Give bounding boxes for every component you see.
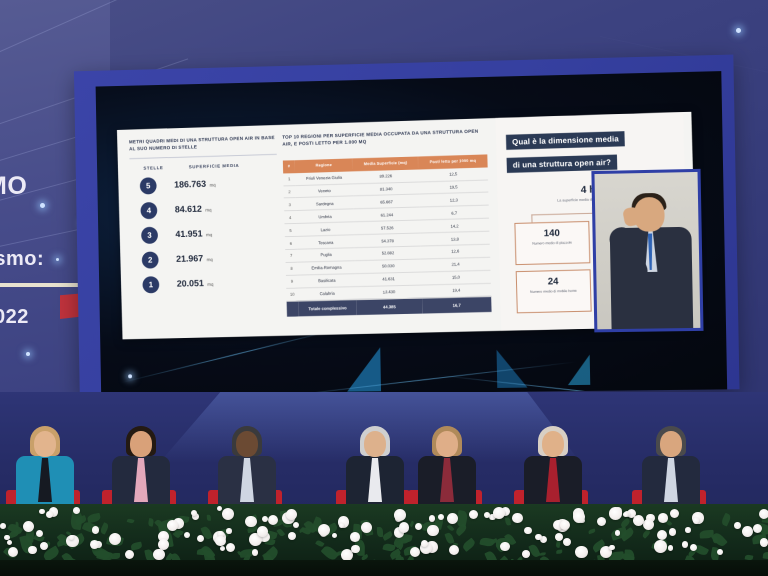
white-cyclamen-bloom (220, 546, 225, 551)
white-cyclamen-bloom (222, 508, 234, 520)
white-cyclamen-bloom (669, 528, 677, 536)
cell-idx: 7 (285, 249, 297, 262)
white-cyclamen-bloom (654, 540, 667, 553)
kpi-value: 24 (520, 276, 587, 289)
left-panel: METRI QUADRI MEDI DI UNA STRUTTURA OPEN … (129, 135, 281, 297)
foliage-leaf (99, 522, 109, 534)
kpi-box: 24Numero medio di mobile home (516, 270, 592, 314)
total-posti-cell: 16,7 (422, 296, 492, 313)
kpi-box: 140Numero medio di piazzole (514, 221, 590, 265)
total-idx-cell (287, 301, 299, 317)
white-cyclamen-bloom (524, 527, 532, 535)
foliage-leaf (556, 550, 562, 554)
foliage-leaf (505, 517, 511, 526)
panelist-head (130, 431, 152, 457)
white-cyclamen-bloom (469, 510, 478, 519)
regions-table: #RegioneMedia Superficie (mq)Posti letto… (283, 154, 492, 316)
foliage-leaf (126, 518, 134, 524)
white-cyclamen-bloom (717, 549, 723, 555)
backdrop-text-line-2: rismo: (0, 248, 44, 271)
header-stelle: STELLE (143, 165, 163, 171)
star-count-badge: 2 (142, 251, 159, 268)
white-cyclamen-bloom (427, 525, 439, 537)
panelist-head (34, 431, 56, 457)
white-cyclamen-bloom (109, 533, 121, 545)
white-cyclamen-bloom (643, 519, 654, 530)
foliage-leaf (86, 513, 101, 524)
white-cyclamen-bloom (92, 526, 100, 534)
white-cyclamen-bloom (734, 522, 740, 528)
deck-triangle (567, 355, 590, 385)
stage-apron (0, 560, 768, 576)
total-superficie-cell: 44.385 (356, 298, 422, 315)
white-cyclamen-bloom (215, 536, 225, 546)
cell-idx: 5 (285, 224, 297, 237)
white-cyclamen-bloom (40, 542, 48, 550)
wall-light-dot (736, 28, 741, 33)
white-cyclamen-bloom (682, 541, 688, 547)
kpi-value: 140 (519, 227, 586, 240)
star-count-badge: 3 (141, 226, 158, 243)
cell-idx: 3 (284, 198, 296, 211)
white-cyclamen-bloom (615, 530, 621, 536)
white-cyclamen-bloom (693, 517, 699, 523)
question-line-1: Qual è la dimensione media (506, 131, 625, 150)
cell-idx: 1 (283, 173, 295, 186)
white-cyclamen-bloom (668, 545, 674, 551)
wall-light-dot (40, 203, 45, 208)
foliage-leaf (479, 537, 494, 548)
white-cyclamen-bloom (742, 526, 753, 537)
cell-idx: 2 (283, 185, 295, 198)
white-cyclamen-bloom (609, 545, 615, 551)
white-cyclamen-bloom (252, 549, 258, 555)
panelist-head (436, 431, 458, 457)
star-rating-row: 120.051 mq (132, 269, 280, 297)
white-cyclamen-bloom (560, 520, 570, 530)
white-cyclamen-bloom (90, 540, 99, 549)
average-area-value: 41.951 mq (175, 228, 212, 239)
white-cyclamen-bloom (597, 517, 606, 526)
panelist-head (660, 431, 682, 457)
foliage-leaf (447, 524, 455, 532)
average-area-value: 84.612 mq (175, 204, 212, 215)
white-cyclamen-bloom (449, 545, 459, 555)
white-cyclamen-bloom (670, 509, 679, 518)
white-cyclamen-bloom (575, 546, 588, 559)
white-cyclamen-bloom (8, 547, 18, 557)
table-column-header: # (283, 160, 295, 173)
white-cyclamen-bloom (245, 516, 257, 528)
white-cyclamen-bloom (39, 509, 44, 514)
wall-light-dot (26, 352, 30, 356)
white-cyclamen-bloom (759, 509, 768, 519)
foliage-leaf (720, 512, 732, 526)
white-cyclamen-bloom (153, 549, 164, 560)
average-area-value: 186.763 mq (174, 179, 216, 190)
star-rating-row: 221.967 mq (132, 244, 280, 273)
foliage-leaf (642, 529, 652, 539)
white-cyclamen-bloom (522, 550, 530, 558)
foliage-leaf (130, 542, 142, 551)
stage-area (0, 392, 768, 576)
white-cyclamen-bloom (512, 513, 523, 524)
white-cyclamen-bloom (685, 527, 691, 533)
foliage-leaf (555, 541, 560, 548)
foliage-leaf (315, 539, 324, 547)
panelist-head (542, 431, 564, 457)
cell-idx: 10 (286, 288, 298, 301)
foliage-leaf (207, 515, 211, 521)
white-cyclamen-bloom (438, 514, 444, 520)
foliage-leaf (712, 535, 718, 544)
cell-idx: 9 (286, 275, 298, 288)
wall-cream-bar (0, 283, 78, 287)
white-cyclamen-bloom (288, 532, 296, 540)
foliage-leaf (276, 528, 284, 537)
star-count-badge: 4 (140, 202, 157, 219)
white-cyclamen-bloom (429, 515, 436, 522)
foliage-leaf (148, 518, 154, 527)
white-cyclamen-bloom (318, 524, 330, 536)
white-cyclamen-bloom (399, 522, 409, 532)
white-cyclamen-bloom (760, 538, 768, 547)
foliage-leaf (462, 538, 476, 552)
white-cyclamen-bloom (217, 506, 222, 511)
white-cyclamen-bloom (394, 509, 406, 521)
white-cyclamen-bloom (7, 540, 13, 546)
center-panel-title: TOP 10 REGIONI PER SUPERFICIE MEDIA OCCU… (282, 128, 487, 153)
white-cyclamen-bloom (535, 534, 542, 541)
white-cyclamen-bloom (361, 522, 372, 533)
deck-glow-dot (128, 374, 132, 378)
connector-left-drop (531, 215, 532, 223)
white-cyclamen-bloom (563, 538, 571, 546)
backdrop-text-line-1: MO (0, 172, 27, 201)
foliage-leaf (111, 553, 120, 559)
header-superficie-media: SUPERFICIE MEDIA (189, 163, 240, 169)
white-cyclamen-bloom (623, 512, 628, 517)
white-cyclamen-bloom (197, 535, 204, 542)
conference-room: MO rismo: 022 (0, 0, 768, 576)
white-cyclamen-bloom (493, 507, 505, 519)
kpi-label: Numero medio di piazzole (519, 241, 585, 248)
backdrop-text-line-3: 022 (0, 306, 29, 329)
white-cyclamen-bloom (609, 507, 622, 520)
foliage-leaf (528, 544, 541, 559)
center-panel: TOP 10 REGIONI PER SUPERFICIE MEDIA OCCU… (282, 128, 491, 316)
white-cyclamen-bloom (286, 509, 297, 520)
wall-light-dot (56, 258, 59, 261)
screen-frame: MINISTERO DEL TURISMO Italia domani (74, 55, 740, 397)
white-cyclamen-bloom (262, 516, 268, 522)
star-count-badge: 5 (140, 177, 157, 194)
star-rating-rows: 5186.763 mq484.612 mq341.951 mq221.967 m… (130, 169, 281, 297)
average-area-value: 20.051 mq (177, 278, 214, 289)
white-cyclamen-bloom (332, 533, 338, 539)
white-cyclamen-bloom (339, 523, 344, 528)
foliage-leaf (409, 521, 415, 528)
regions-table-body: 1Friuli Venezia Giulia89.22612,52Veneto8… (283, 167, 491, 301)
white-cyclamen-bloom (555, 533, 563, 541)
white-cyclamen-bloom (226, 528, 231, 533)
white-cyclamen-bloom (125, 550, 135, 560)
average-area-value: 21.967 mq (176, 253, 213, 264)
white-cyclamen-bloom (410, 547, 420, 557)
total-label-cell: Totale complessivo (298, 299, 357, 316)
white-cyclamen-bloom (226, 543, 235, 552)
white-cyclamen-bloom (351, 545, 359, 553)
star-count-badge: 1 (142, 276, 159, 293)
sign-language-interpreter-inset (591, 169, 703, 333)
kpi-label: Numero medio di mobile home (520, 289, 586, 296)
white-cyclamen-bloom (350, 532, 360, 542)
cell-idx: 8 (286, 262, 298, 275)
white-cyclamen-bloom (0, 523, 6, 529)
foliage-leaf (540, 552, 546, 556)
foliage-leaf (382, 531, 393, 541)
screen-display-area: MINISTERO DEL TURISMO Italia domani (96, 71, 728, 396)
foliage-leaf (587, 528, 595, 534)
white-cyclamen-bloom (658, 513, 668, 523)
white-cyclamen-bloom (657, 530, 667, 540)
cell-idx: 4 (284, 211, 296, 224)
white-cyclamen-bloom (28, 546, 37, 555)
cell-idx: 6 (285, 236, 297, 249)
white-cyclamen-bloom (184, 532, 190, 538)
white-cyclamen-bloom (293, 522, 299, 528)
white-cyclamen-bloom (500, 542, 510, 552)
led-presentation-screen[interactable]: MINISTERO DEL TURISMO Italia domani (74, 55, 740, 397)
panelist-head (236, 431, 258, 457)
panelist-head (364, 431, 386, 457)
